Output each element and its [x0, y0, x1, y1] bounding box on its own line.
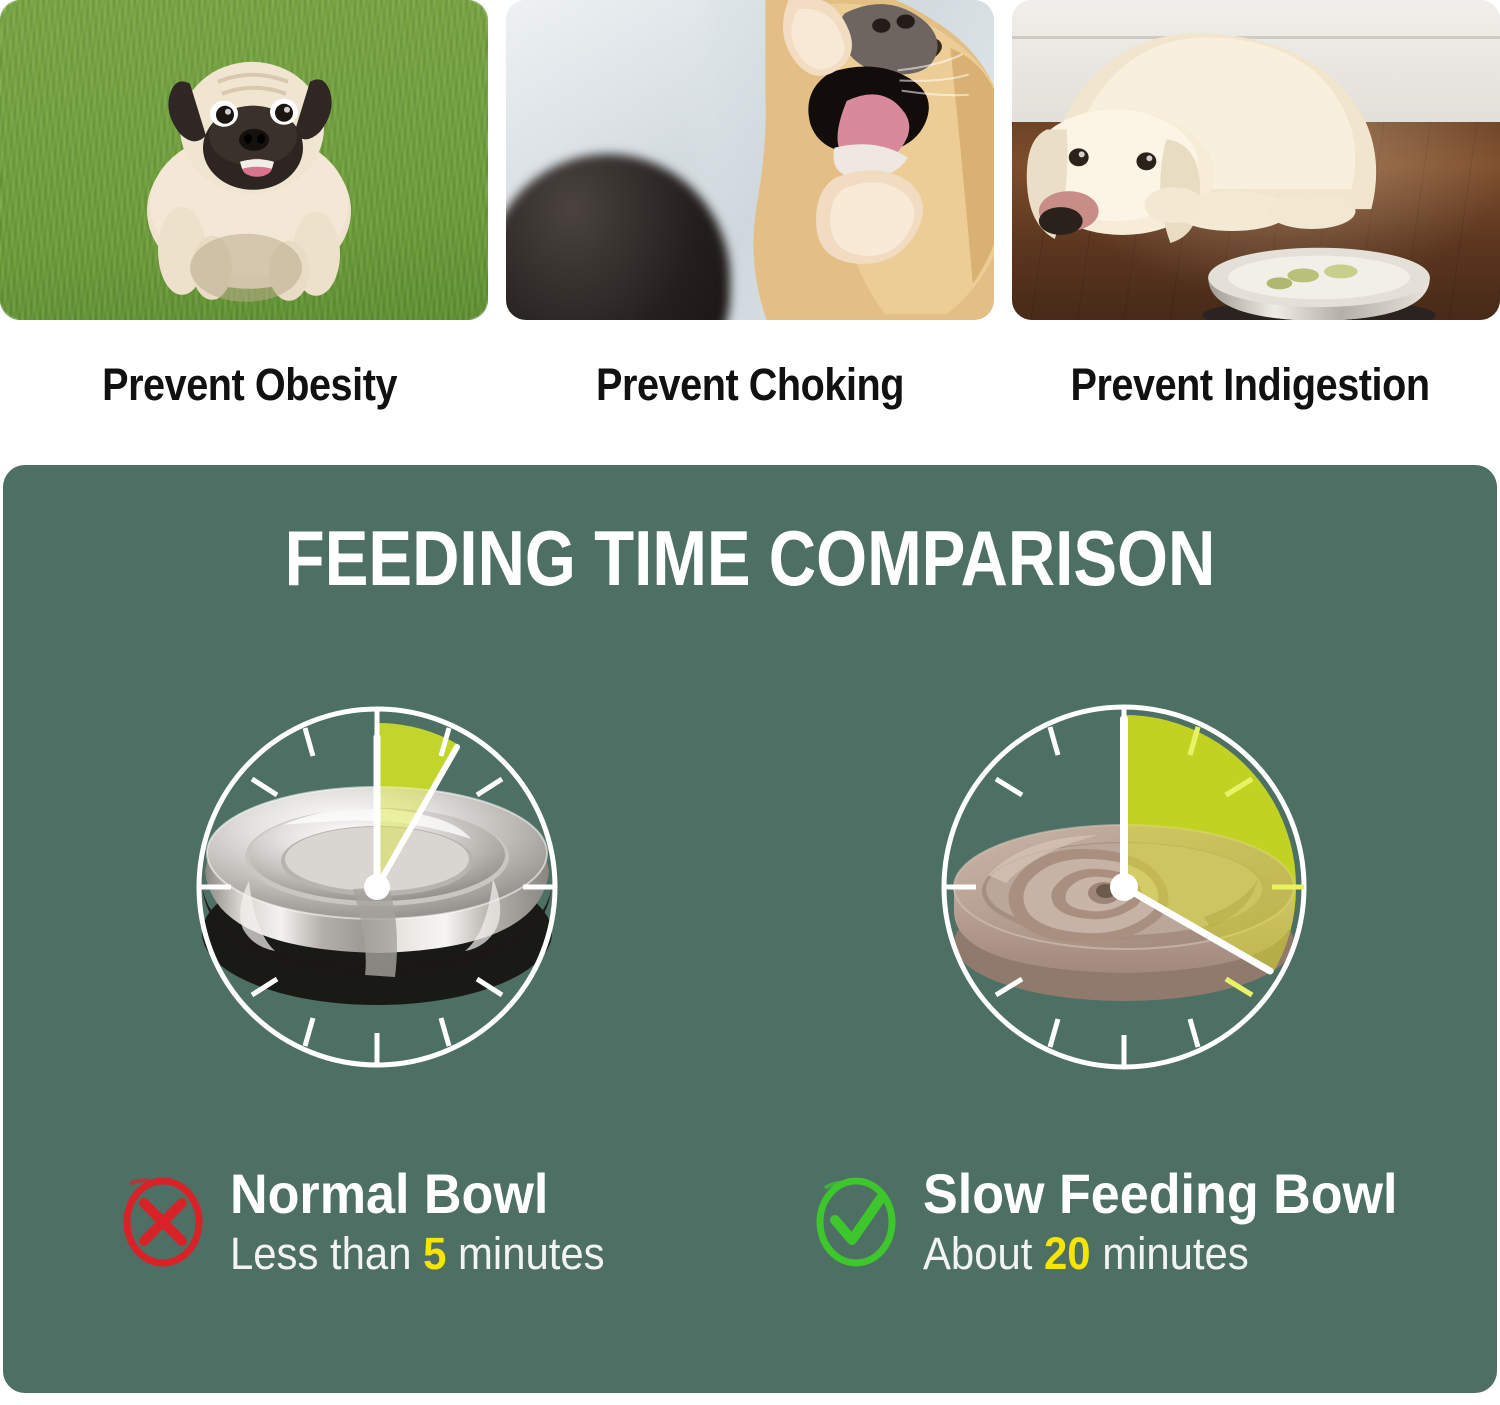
sub-value-normal: 5 [423, 1228, 446, 1279]
sub-prefix-normal: Less than [230, 1228, 411, 1279]
caption-prevent-obesity: Prevent Obesity [103, 359, 398, 411]
sub-normal-bowl: Less than 5 minutes [230, 1228, 605, 1280]
footer-normal-bowl: Normal Bowl Less than 5 minutes [3, 1165, 750, 1345]
sub-suffix-slow: minutes [1103, 1228, 1250, 1279]
infographic-root: Prevent Obesity Prevent Choking Prevent … [0, 0, 1500, 1405]
photo-pug-icon [0, 0, 488, 320]
clock-slot-slow-bowl [750, 675, 1497, 1145]
cross-icon [120, 1176, 206, 1268]
comparison-footer: Normal Bowl Less than 5 minutes Slow Fee… [3, 1165, 1497, 1345]
benefit-photo-choking [506, 0, 994, 320]
photo-choking-icon [506, 0, 994, 320]
sub-suffix-normal: minutes [458, 1228, 605, 1279]
clock-dial-normal-bowl [157, 675, 597, 1127]
clock-normal-bowl [157, 675, 597, 1127]
sub-value-slow: 20 [1044, 1228, 1091, 1279]
caption-cell-choking: Prevent Choking [500, 330, 1000, 440]
clock-slot-normal-bowl [3, 675, 750, 1145]
page-title: FEEDING TIME COMPARISON [123, 513, 1378, 604]
caption-prevent-indigestion: Prevent Indigestion [1070, 359, 1429, 411]
photo-indigestion-icon [1012, 0, 1500, 320]
comparison-panel: FEEDING TIME COMPARISON [3, 465, 1497, 1393]
clock-slow-feeding-bowl [904, 675, 1344, 1127]
steel-bowl-in-photo [1197, 224, 1441, 320]
pug-illustration [94, 36, 394, 306]
benefit-photo-indigestion [1012, 0, 1500, 320]
caption-cell-indigestion: Prevent Indigestion [1000, 330, 1500, 440]
clock-comparison-row [3, 675, 1497, 1145]
label-normal-bowl: Normal Bowl [230, 1165, 605, 1224]
benefits-photo-strip [0, 0, 1500, 325]
label-slow-feeding-bowl: Slow Feeding Bowl [923, 1165, 1398, 1224]
benefit-captions: Prevent Obesity Prevent Choking Prevent … [0, 330, 1500, 440]
caption-prevent-choking: Prevent Choking [596, 359, 904, 411]
footer-slow-bowl: Slow Feeding Bowl About 20 minutes [750, 1165, 1497, 1345]
clock-dial-slow-bowl [904, 675, 1344, 1127]
benefit-photo-obesity [0, 0, 488, 320]
check-icon [813, 1176, 899, 1268]
sub-prefix-slow: About [923, 1228, 1032, 1279]
sub-slow-bowl: About 20 minutes [923, 1228, 1398, 1280]
caption-cell-obesity: Prevent Obesity [0, 330, 500, 440]
